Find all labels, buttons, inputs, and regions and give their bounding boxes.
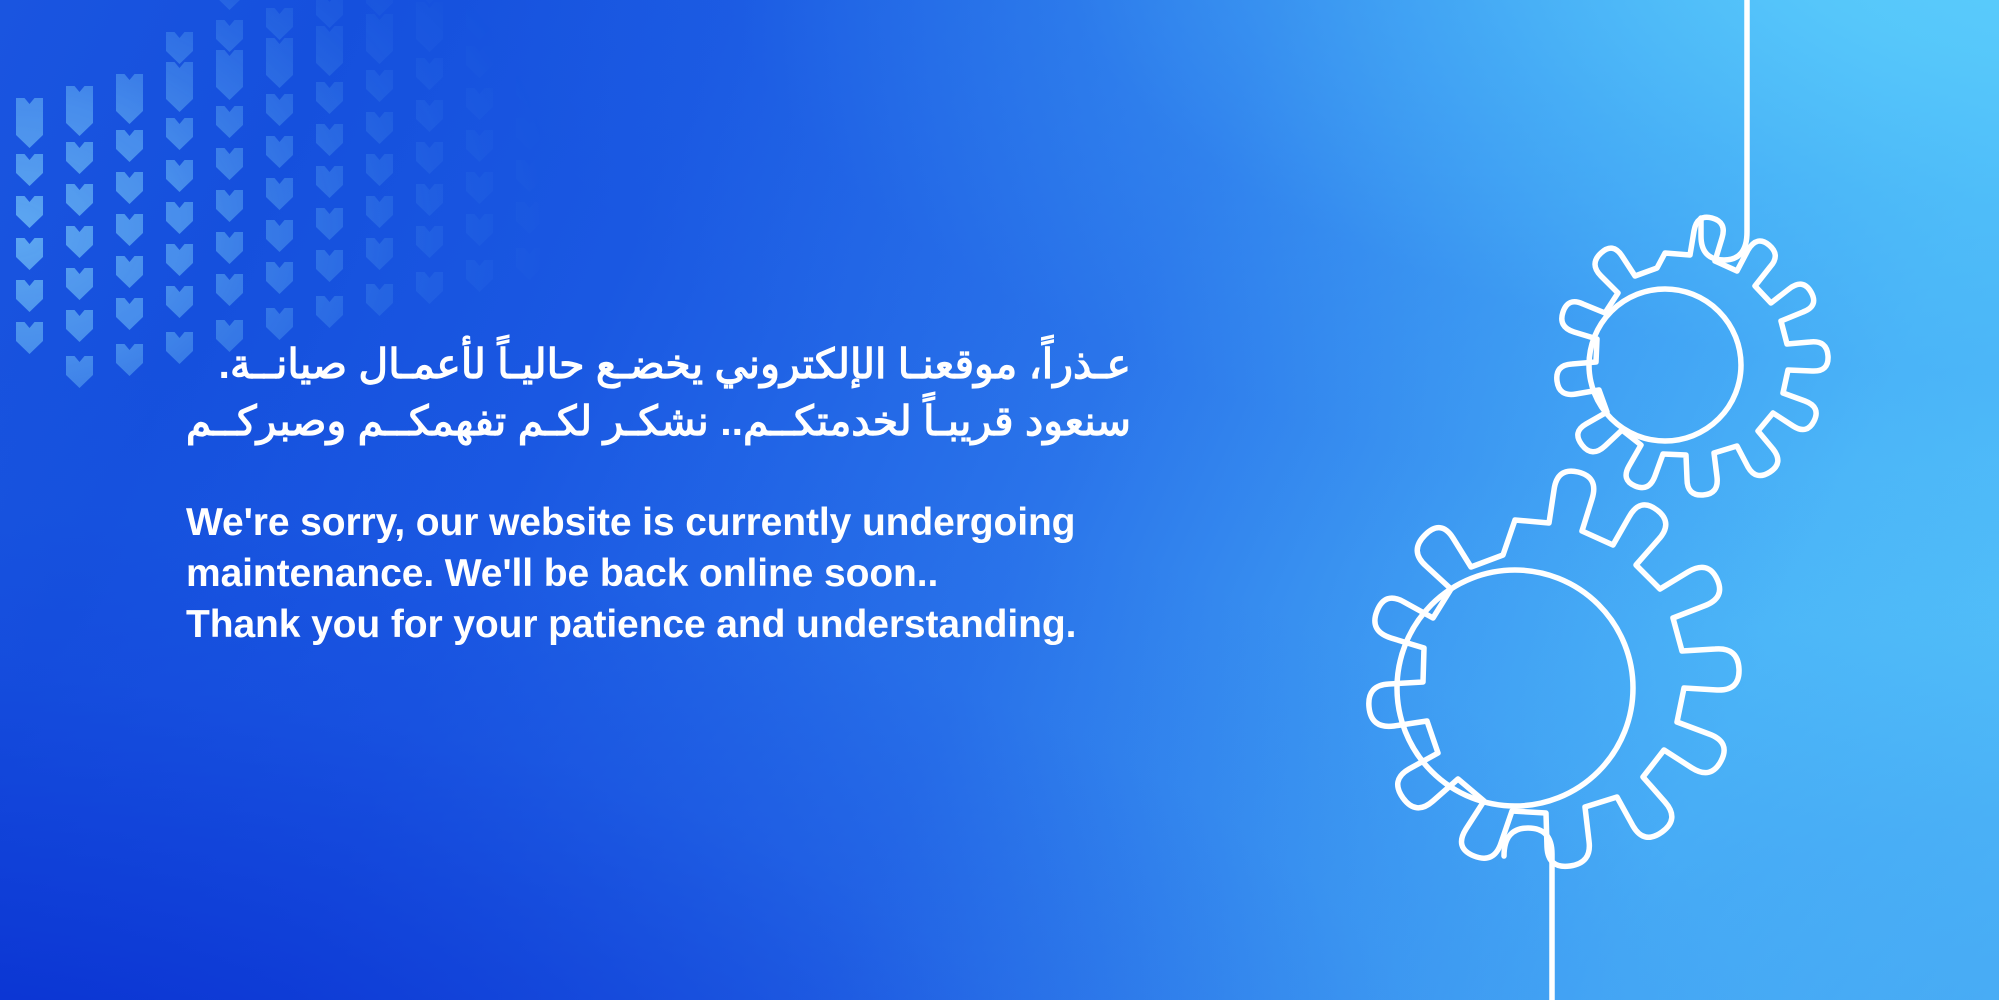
message-block: عـذراً، موقعنـا الإلكتروني يخضـع حاليـاً… (186, 336, 1196, 650)
arabic-line-2: سنعود قريبـاً لخدمتكــم.. نشكـر لكـم تفه… (186, 393, 1131, 450)
english-line-2: maintenance. We'll be back online soon.. (186, 548, 1196, 599)
maintenance-page: عـذراً، موقعنـا الإلكتروني يخضـع حاليـاً… (0, 0, 1999, 1000)
english-line-3: Thank you for your patience and understa… (186, 599, 1196, 650)
arabic-message: عـذراً، موقعنـا الإلكتروني يخضـع حاليـاً… (186, 336, 1131, 451)
english-message: We're sorry, our website is currently un… (186, 497, 1196, 650)
arabic-line-1: عـذراً، موقعنـا الإلكتروني يخضـع حاليـاً… (186, 336, 1131, 393)
english-line-1: We're sorry, our website is currently un… (186, 497, 1196, 548)
